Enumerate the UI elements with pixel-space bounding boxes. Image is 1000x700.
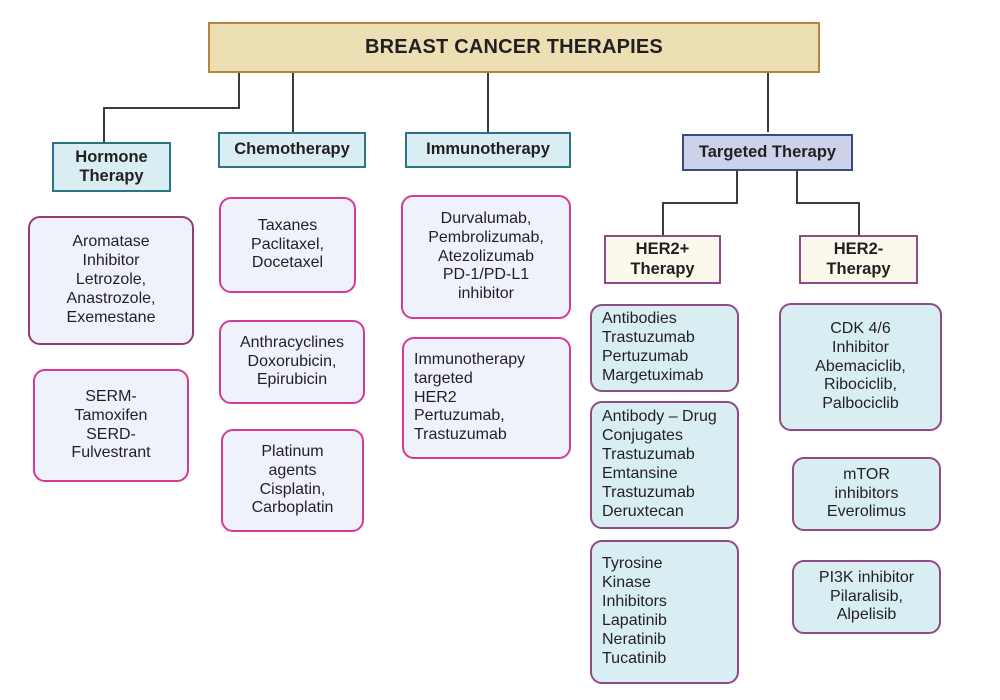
connector-root-hormone-horizontal — [103, 107, 240, 109]
leaf-text: Tyrosine Kinase Inhibitors Lapatinib Ner… — [602, 555, 667, 668]
category-hormone-therapy-label: Hormone Therapy — [75, 148, 147, 187]
leaf-text: Platinum agents Cisplatin, Carboplatin — [252, 443, 334, 519]
connector-root-immuno — [487, 73, 489, 132]
leaf-text: Immunotherapy targeted HER2 Pertuzumab, … — [414, 351, 525, 445]
category-immunotherapy-label: Immunotherapy — [426, 140, 550, 159]
leaf-chemo-platinum-agents[interactable]: Platinum agents Cisplatin, Carboplatin — [221, 429, 364, 532]
leaf-immuno-checkpoint-inhibitors[interactable]: Durvalumab, Pembrolizumab, Atezolizumab … — [401, 195, 571, 319]
leaf-text: Anthracyclines Doxorubicin, Epirubicin — [240, 334, 344, 391]
leaf-her2pos-tyrosine-kinase-inhibitors[interactable]: Tyrosine Kinase Inhibitors Lapatinib Ner… — [590, 540, 739, 684]
leaf-text: Taxanes Paclitaxel, Docetaxel — [251, 217, 324, 274]
connector-targeted-her2pos-drop — [662, 202, 664, 235]
root-title-box: BREAST CANCER THERAPIES — [208, 22, 820, 73]
connector-root-hormone-drop — [103, 107, 105, 142]
category-chemotherapy[interactable]: Chemotherapy — [218, 132, 366, 168]
diagram-canvas: BREAST CANCER THERAPIES Hormone Therapy … — [0, 0, 1000, 700]
category-immunotherapy[interactable]: Immunotherapy — [405, 132, 571, 168]
leaf-hormone-aromatase-inhibitor[interactable]: Aromatase Inhibitor Letrozole, Anastrozo… — [28, 216, 194, 345]
connector-targeted-her2pos-horizontal — [662, 202, 738, 204]
connector-targeted-her2neg-stem — [796, 170, 798, 204]
connector-root-hormone-stem — [238, 73, 240, 109]
leaf-text: mTOR inhibitors Everolimus — [827, 466, 906, 523]
connector-targeted-her2neg-drop — [858, 202, 860, 235]
page-title: BREAST CANCER THERAPIES — [365, 36, 663, 60]
leaf-chemo-anthracyclines[interactable]: Anthracyclines Doxorubicin, Epirubicin — [219, 320, 365, 404]
leaf-text: Durvalumab, Pembrolizumab, Atezolizumab … — [428, 210, 544, 304]
leaf-immuno-targeted-her2[interactable]: Immunotherapy targeted HER2 Pertuzumab, … — [402, 337, 571, 459]
connector-root-targeted — [767, 73, 769, 132]
leaf-chemo-taxanes[interactable]: Taxanes Paclitaxel, Docetaxel — [219, 197, 356, 293]
leaf-her2pos-antibody-drug-conjugates[interactable]: Antibody – Drug Conjugates Trastuzumab E… — [590, 401, 739, 529]
category-chemotherapy-label: Chemotherapy — [234, 140, 350, 159]
leaf-her2neg-mtor-inhibitors[interactable]: mTOR inhibitors Everolimus — [792, 457, 941, 531]
leaf-text: Antibody – Drug Conjugates Trastuzumab E… — [602, 408, 717, 521]
category-targeted-therapy[interactable]: Targeted Therapy — [682, 134, 853, 171]
leaf-her2neg-cdk46-inhibitor[interactable]: CDK 4/6 Inhibitor Abemaciclib, Ribocicli… — [779, 303, 942, 431]
leaf-text: Antibodies Trastuzumab Pertuzumab Marget… — [602, 310, 703, 386]
connector-targeted-her2neg-horizontal — [796, 202, 860, 204]
category-her2-positive-therapy[interactable]: HER2+ Therapy — [604, 235, 721, 284]
leaf-her2pos-antibodies[interactable]: Antibodies Trastuzumab Pertuzumab Marget… — [590, 304, 739, 392]
leaf-text: Aromatase Inhibitor Letrozole, Anastrozo… — [67, 233, 156, 327]
connector-root-chemo — [292, 73, 294, 132]
category-her2-negative-therapy[interactable]: HER2- Therapy — [799, 235, 918, 284]
leaf-text: CDK 4/6 Inhibitor Abemaciclib, Ribocicli… — [815, 320, 906, 414]
connector-targeted-her2pos-stem — [736, 170, 738, 204]
leaf-text: SERM- Tamoxifen SERD- Fulvestrant — [71, 388, 150, 464]
category-her2-negative-label: HER2- Therapy — [826, 240, 890, 279]
leaf-her2neg-pi3k-inhibitor[interactable]: PI3K inhibitor Pilaralisib, Alpelisib — [792, 560, 941, 634]
category-hormone-therapy[interactable]: Hormone Therapy — [52, 142, 171, 192]
leaf-text: PI3K inhibitor Pilaralisib, Alpelisib — [819, 569, 914, 626]
category-targeted-therapy-label: Targeted Therapy — [699, 143, 836, 162]
leaf-hormone-serm-serd[interactable]: SERM- Tamoxifen SERD- Fulvestrant — [33, 369, 189, 482]
category-her2-positive-label: HER2+ Therapy — [630, 240, 694, 279]
